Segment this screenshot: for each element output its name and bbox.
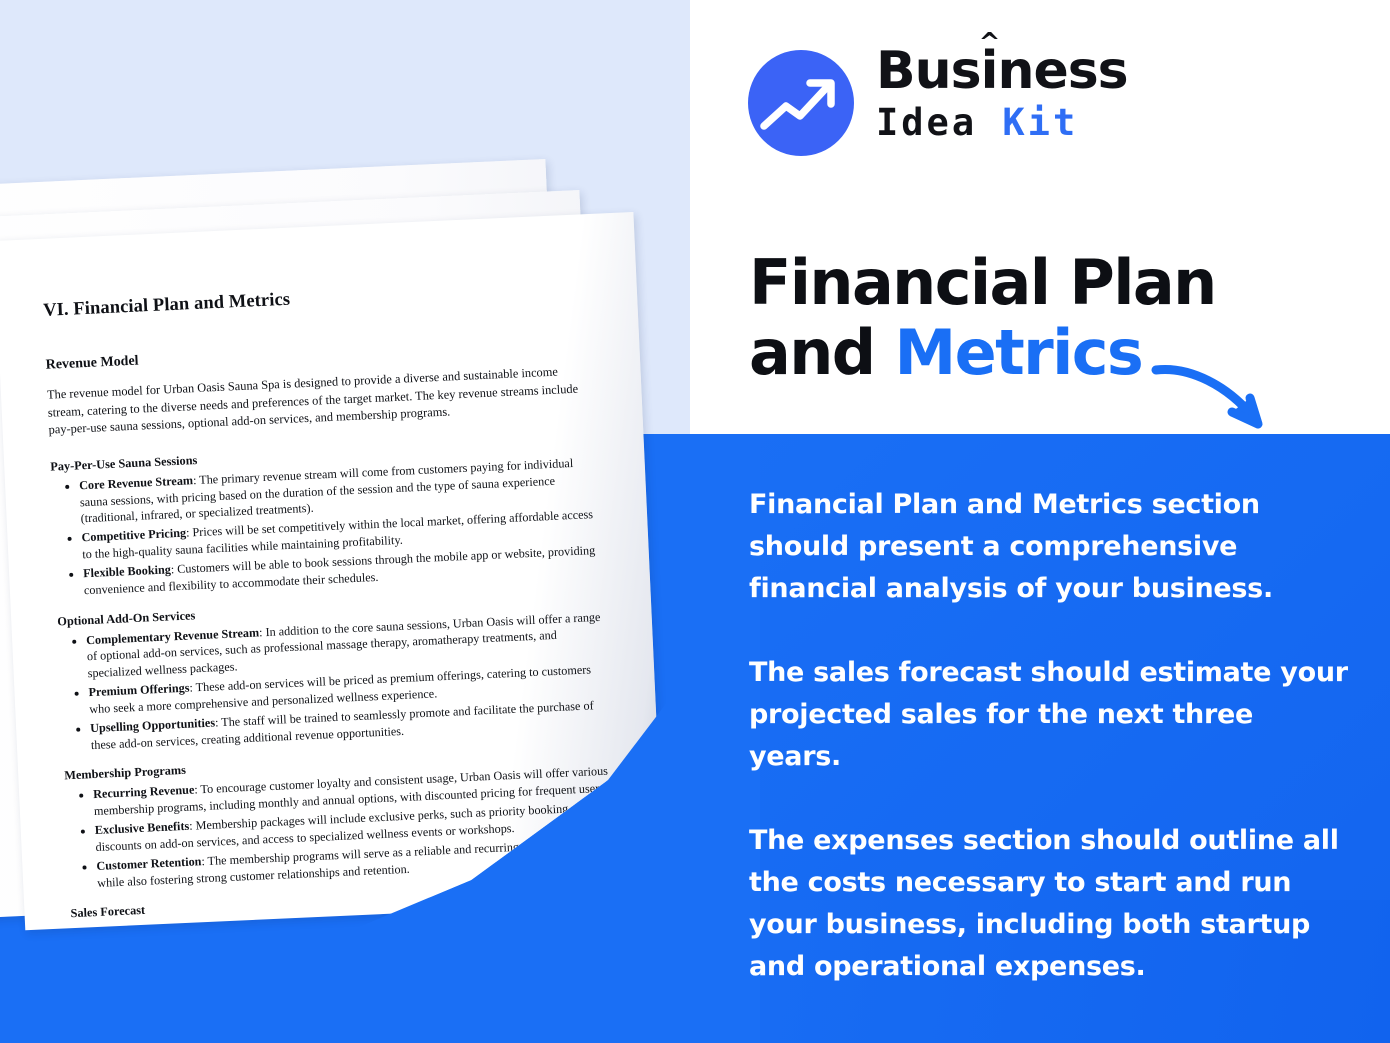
logo-line-idea-kit: Idea Kit (876, 100, 1128, 146)
logo-wordmark: Bus^iness Idea Kit (876, 42, 1128, 146)
document-bullet-list: Core Revenue Stream: The primary revenue… (51, 454, 604, 601)
bullet-label: Flexible Booking (83, 562, 171, 580)
panel-description: Financial Plan and Metrics section shoul… (749, 484, 1349, 988)
bullet-label: Upselling Opportunities (90, 715, 215, 735)
logo-mark-circle (748, 50, 854, 156)
bullet-label: Premium Offerings (88, 681, 190, 700)
document-sections: Pay-Per-Use Sauna SessionsCore Revenue S… (50, 435, 617, 893)
logo-kit: Kit (1002, 101, 1078, 144)
document-bullet-list: Complementary Revenue Stream: In additio… (58, 608, 611, 755)
bullet-label: Core Revenue Stream (79, 473, 193, 492)
trending-up-arrow-icon (748, 50, 854, 156)
logo-idea: Idea (876, 101, 977, 144)
bullet-label: Recurring Revenue (93, 783, 195, 802)
panel-paragraph: The sales forecast should estimate your … (749, 652, 1349, 778)
poster-canvas: VI Re The inc stre Pay Op M VI. Financia… (0, 0, 1390, 1043)
headline-line-1: Financial Plan (749, 246, 1216, 319)
bullet-label: Exclusive Benefits (95, 819, 190, 837)
logo-line-business: Bus^iness (876, 42, 1128, 100)
curved-down-right-arrow-icon (1150, 358, 1280, 438)
bullet-label: Competitive Pricing (81, 526, 186, 545)
brand-logo: Bus^iness Idea Kit (748, 42, 1128, 164)
panel-paragraph: Financial Plan and Metrics section shoul… (749, 484, 1349, 610)
logo-business-pre: Bus (876, 41, 981, 101)
circumflex-icon: ^ (979, 30, 1000, 56)
document-section: Pay-Per-Use Sauna SessionsCore Revenue S… (50, 435, 604, 601)
bullet-label: Complementary Revenue Stream (86, 625, 260, 647)
logo-business-post: ness (997, 41, 1127, 101)
logo-business-i-circumflex: ^i (981, 42, 998, 100)
bullet-label: Customer Retention (96, 854, 202, 873)
revenue-model-paragraph: The revenue model for Urban Oasis Sauna … (47, 362, 597, 440)
panel-paragraph: The expenses section should outline all … (749, 820, 1349, 988)
document-title: VI. Financial Plan and Metrics (43, 276, 591, 322)
headline-line-2-accent: Metrics (895, 316, 1143, 389)
document-section: Optional Add-On ServicesComplementary Re… (57, 589, 611, 755)
headline-line-2-dark: and (749, 316, 895, 389)
